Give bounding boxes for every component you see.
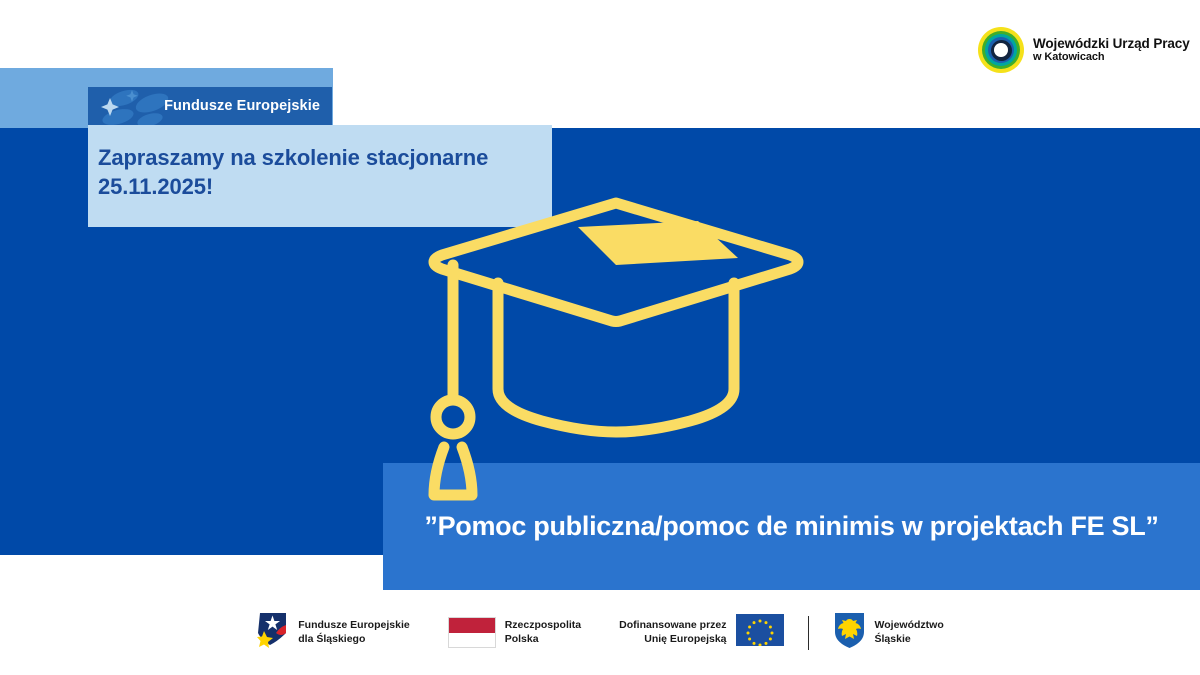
graduation-cap-icon xyxy=(420,195,812,507)
footer-item-unia-europejska: Dofinansowane przez Unię Europejską xyxy=(619,614,783,651)
flag-poland-icon xyxy=(448,617,496,648)
footer-label-line2: Śląskie xyxy=(875,633,911,645)
fundusze-europejskie-logo-icon xyxy=(256,611,289,654)
flag-european-union-icon xyxy=(736,614,784,651)
wup-logo-line2: w Katowicach xyxy=(1033,51,1190,64)
footer-logo-strip: Fundusze Europejskie dla Śląskiego Rzecz… xyxy=(0,590,1200,675)
wup-logo-text: Wojewódzki Urząd Pracy w Katowicach xyxy=(1033,36,1190,65)
invitation-line1: Zapraszamy na szkolenie stacjonarne xyxy=(98,145,488,170)
invitation-text: Zapraszamy na szkolenie stacjonarne 25.1… xyxy=(98,143,544,201)
footer-label-line1: Województwo xyxy=(875,619,944,631)
footer-divider xyxy=(808,616,809,650)
coat-of-arms-silesia-icon xyxy=(833,611,866,654)
fundusze-europejskie-badge: Fundusze Europejskie xyxy=(88,87,332,125)
footer-label-fundusze-europejskie: Fundusze Europejskie dla Śląskiego xyxy=(298,619,409,646)
footer-label-line2: dla Śląskiego xyxy=(298,633,365,645)
footer-label-wojewodztwo-slaskie: Województwo Śląskie xyxy=(875,619,944,646)
footer-item-rzeczpospolita-polska: Rzeczpospolita Polska xyxy=(448,617,581,648)
footer-label-line1: Rzeczpospolita xyxy=(505,619,581,631)
wup-logo-line1: Wojewódzki Urząd Pracy xyxy=(1033,36,1190,52)
stars-decoration-icon xyxy=(88,87,176,125)
footer-label-line1: Dofinansowane przez xyxy=(619,619,726,631)
footer-item-fundusze-europejskie: Fundusze Europejskie dla Śląskiego xyxy=(256,611,409,654)
wup-logo: Wojewódzki Urząd Pracy w Katowicach xyxy=(978,26,1158,74)
footer-label-line2: Polska xyxy=(505,633,539,645)
fundusze-europejskie-badge-label: Fundusze Europejskie xyxy=(164,87,326,125)
invitation-line2: 25.11.2025! xyxy=(98,174,213,199)
footer-label-unia-europejska: Dofinansowane przez Unię Europejską xyxy=(619,619,726,646)
footer-label-line1: Fundusze Europejskie xyxy=(298,619,409,631)
wup-rings-icon xyxy=(978,27,1024,73)
banner-canvas: Wojewódzki Urząd Pracy w Katowicach Fund… xyxy=(0,0,1200,675)
footer-label-rzeczpospolita-polska: Rzeczpospolita Polska xyxy=(505,619,581,646)
footer-label-line2: Unię Europejską xyxy=(644,633,726,645)
footer-item-wojewodztwo-slaskie: Województwo Śląskie xyxy=(833,611,944,654)
headline-text: ”Pomoc publiczna/pomoc de minimis w proj… xyxy=(383,511,1200,542)
headline-container: ”Pomoc publiczna/pomoc de minimis w proj… xyxy=(383,463,1200,590)
